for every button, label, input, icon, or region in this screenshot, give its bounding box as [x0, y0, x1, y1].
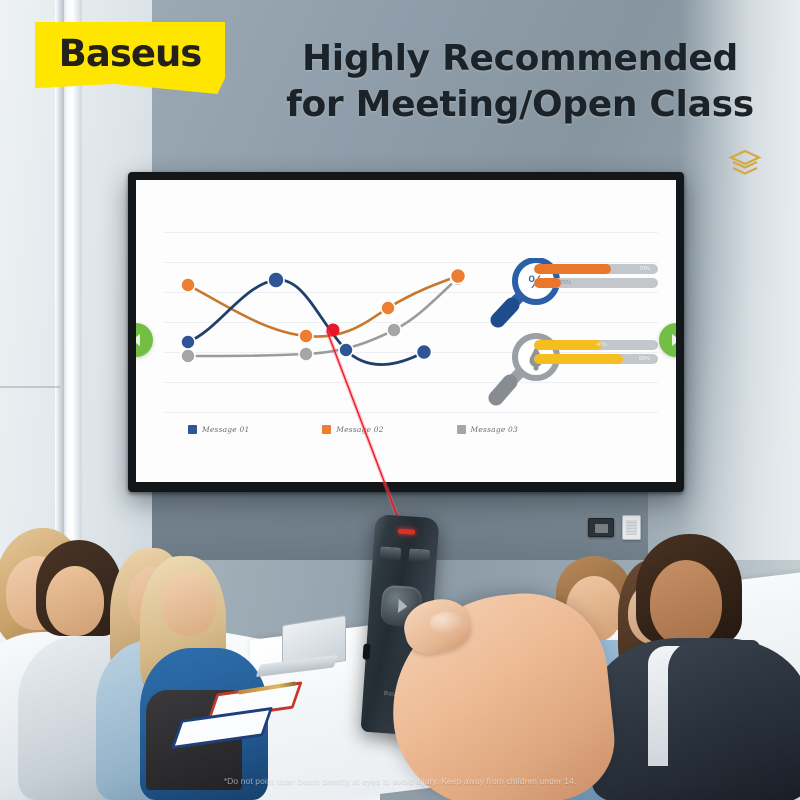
- legend-item-message-03: Message 03: [457, 425, 518, 434]
- remote-prev-button[interactable]: [380, 546, 402, 560]
- data-point-message-03: [181, 349, 195, 363]
- door-mullion-right: [66, 0, 82, 600]
- infographic-bars-1: 70% 75%: [534, 264, 658, 288]
- data-point-message-01: [268, 272, 284, 288]
- legend-swatch: [457, 425, 466, 434]
- data-point-message-03: [299, 347, 313, 361]
- door-seam: [0, 386, 60, 388]
- legend-swatch: [322, 425, 331, 434]
- data-point-message-01: [417, 345, 432, 360]
- series-path-message-03: [188, 278, 458, 356]
- data-point-message-02: [299, 329, 313, 343]
- brand-badge: Baseus: [35, 22, 225, 94]
- data-point-message-01: [339, 343, 353, 357]
- wall-switch-dark: [588, 518, 614, 537]
- laser-led-indicator: [398, 529, 415, 535]
- data-point-message-03: [387, 323, 401, 337]
- legend-item-message-01: Message 01: [188, 425, 249, 434]
- layers-icon: [728, 148, 762, 178]
- legend-label: Message 03: [471, 425, 518, 434]
- legend-label: Message 02: [336, 425, 383, 434]
- data-point-message-01: [181, 335, 195, 349]
- legend-swatch: [188, 425, 197, 434]
- laser-target-dot: [327, 324, 340, 337]
- remote-next-button[interactable]: [408, 548, 430, 562]
- brand-name: Baseus: [59, 32, 202, 75]
- legend-label: Message 01: [202, 425, 249, 434]
- progress-bar: 40%: [534, 340, 658, 350]
- line-chart: [136, 180, 676, 482]
- infographic-bars-2: 40% 60%: [534, 340, 658, 364]
- data-point-message-02: [181, 278, 195, 292]
- presentation-slide: % 70% 75%: [136, 180, 676, 482]
- chevron-right-icon: [398, 599, 408, 614]
- data-point-message-02: [381, 301, 395, 315]
- tv-screen: % 70% 75%: [136, 180, 676, 482]
- series-path-message-02: [188, 276, 458, 337]
- bar-value: 70%: [639, 264, 650, 274]
- headline-line-2: for Meeting/Open Class: [255, 82, 785, 128]
- bar-value: 40%: [596, 340, 607, 350]
- chart-legend: Message 01 Message 02 Message 03: [188, 425, 518, 434]
- remote-side-switch[interactable]: [363, 644, 371, 660]
- wall-switch-light: [622, 515, 641, 540]
- wall-mounted-tv: % 70% 75%: [128, 172, 684, 492]
- chevron-right-icon: [672, 334, 676, 346]
- disclaimer-text: *Do not point laser beam directly at eye…: [0, 776, 800, 786]
- bar-value: 75%: [560, 278, 571, 288]
- progress-bar: 75%: [534, 278, 658, 288]
- progress-bar: 60%: [534, 354, 658, 364]
- chevron-left-icon: [136, 334, 140, 346]
- headline-line-1: Highly Recommended: [255, 36, 785, 82]
- progress-bar: 70%: [534, 264, 658, 274]
- data-point-message-02: [451, 269, 466, 284]
- headline: Highly Recommended for Meeting/Open Clas…: [255, 36, 785, 128]
- door-mullion-left: [55, 0, 64, 600]
- legend-item-message-02: Message 02: [322, 425, 383, 434]
- product-marketing-image: % 70% 75%: [0, 0, 800, 800]
- bar-value: 60%: [639, 354, 650, 364]
- finger-highlight: [430, 612, 464, 634]
